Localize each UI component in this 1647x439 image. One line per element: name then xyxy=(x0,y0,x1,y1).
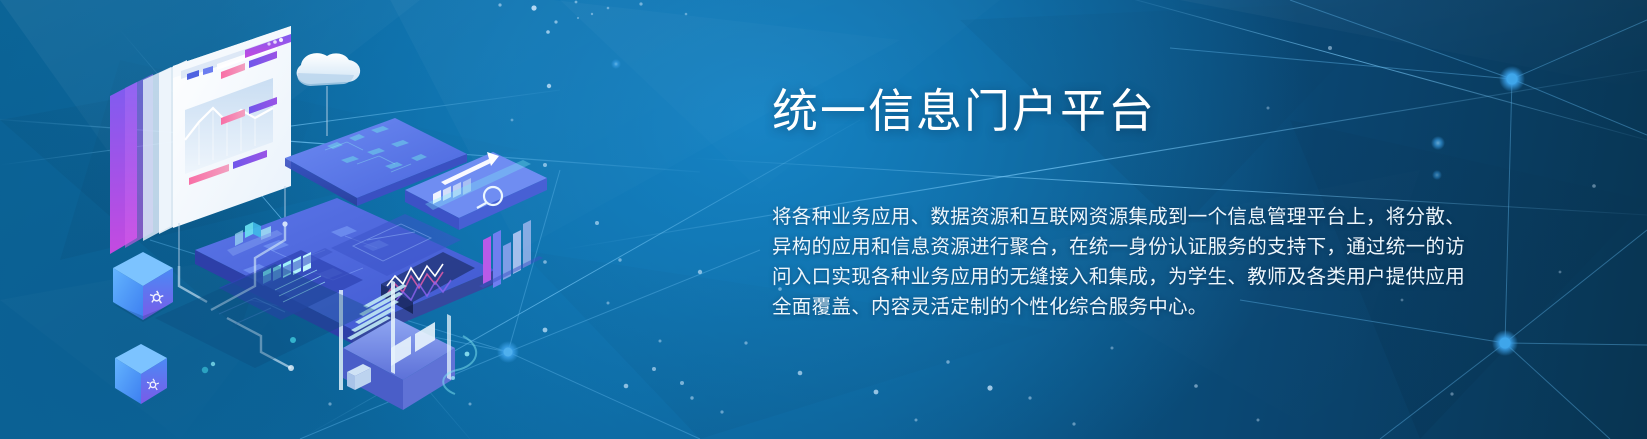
gear-cube-icon xyxy=(115,344,167,404)
hero-text-block: 统一信息门户平台 将各种业务应用、数据资源和互联网资源集成到一个信息管理平台上，… xyxy=(772,84,1472,322)
isometric-data-platform-illustration xyxy=(95,18,565,428)
page-description: 将各种业务应用、数据资源和互联网资源集成到一个信息管理平台上，将分散、 异构的应… xyxy=(772,202,1462,322)
gear-cube-icon xyxy=(113,252,173,322)
bar-chart xyxy=(479,220,543,288)
description-line: 将各种业务应用、数据资源和互联网资源集成到一个信息管理平台上，将分散、 xyxy=(772,202,1462,232)
page-title: 统一信息门户平台 xyxy=(772,84,1472,139)
description-line: 异构的应用和信息资源进行聚合，在统一身份认证服务的支持下，通过统一的访 xyxy=(772,232,1462,262)
description-line: 问入口实现各种业务应用的无缝接入和集成，为学生、教师及各类用户提供应用 xyxy=(772,262,1462,292)
hero-banner: 统一信息门户平台 将各种业务应用、数据资源和互联网资源集成到一个信息管理平台上，… xyxy=(0,0,1647,439)
description-line: 全面覆盖、内容灵活定制的个性化综合服务中心。 xyxy=(772,292,1462,322)
cloud-icon xyxy=(297,53,361,136)
